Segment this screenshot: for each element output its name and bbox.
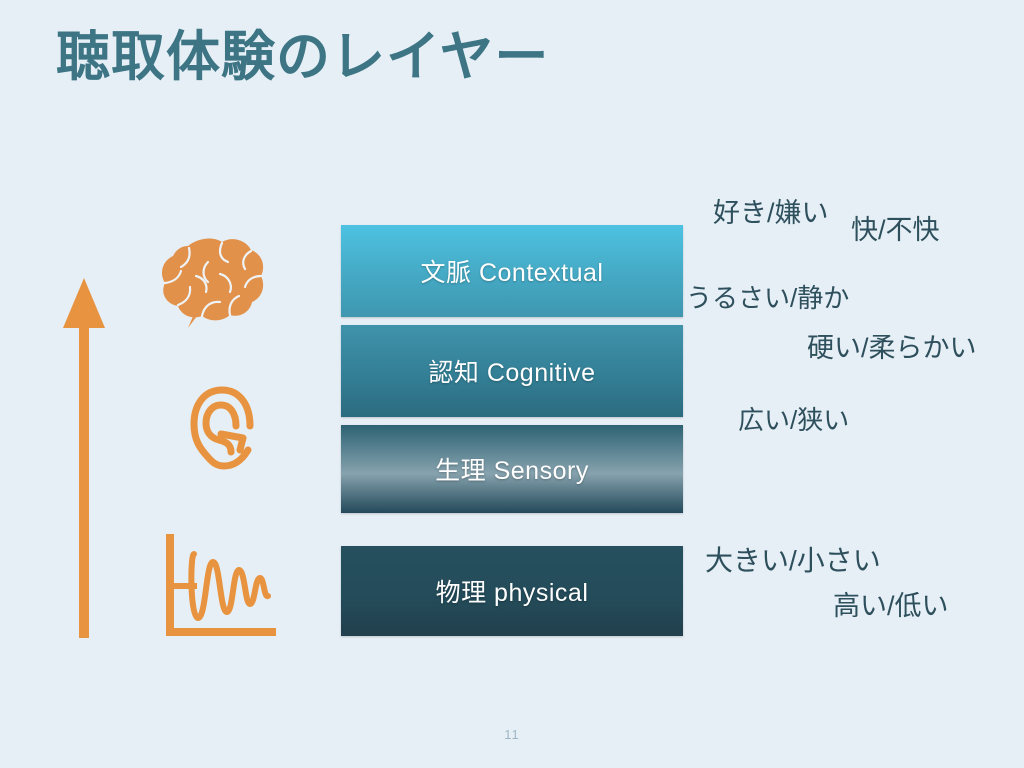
ear-icon-glyph — [186, 382, 266, 474]
layer-cognitive-label: 認知 Cognitive — [428, 353, 595, 389]
brain-icon-glyph — [158, 232, 268, 332]
ear-icon — [186, 382, 266, 474]
layer-physical-label: 物理 physical — [436, 573, 589, 609]
upward-arrow — [62, 278, 106, 638]
waveform-icon-glyph — [160, 534, 278, 642]
annotation-high-low: 高い/低い — [833, 593, 949, 620]
upward-arrow-icon — [62, 278, 106, 638]
annotation-wide-narrow: 広い/狭い — [738, 407, 849, 433]
layer-sensory-label: 生理 Sensory — [435, 451, 589, 487]
layer-physical[interactable]: 物理 physical — [341, 546, 683, 636]
layer-sensory[interactable]: 生理 Sensory — [341, 425, 683, 513]
layer-cognitive[interactable]: 認知 Cognitive — [341, 325, 683, 417]
page-title: 聴取体験のレイヤー — [56, 26, 549, 88]
brain-icon — [158, 232, 268, 332]
layer-contextual-label: 文脈 Contextual — [421, 253, 604, 289]
slide-canvas: 聴取体験のレイヤー — [0, 0, 1024, 768]
annotation-pleasant-unpleasant: 快/不快 — [851, 217, 940, 244]
page-number: 11 — [0, 727, 1024, 742]
waveform-icon — [160, 534, 278, 642]
annotation-big-small: 大きい/小さい — [705, 547, 881, 575]
annotation-like-dislike: 好き/嫌い — [713, 200, 829, 227]
annotation-hard-soft: 硬い/柔らかい — [807, 335, 977, 362]
layer-contextual[interactable]: 文脈 Contextual — [341, 225, 683, 317]
layer-stack: 文脈 Contextual 認知 Cognitive 生理 Sensory 物理… — [341, 225, 683, 636]
annotation-loud-quiet: うるさい/静か — [686, 285, 849, 311]
